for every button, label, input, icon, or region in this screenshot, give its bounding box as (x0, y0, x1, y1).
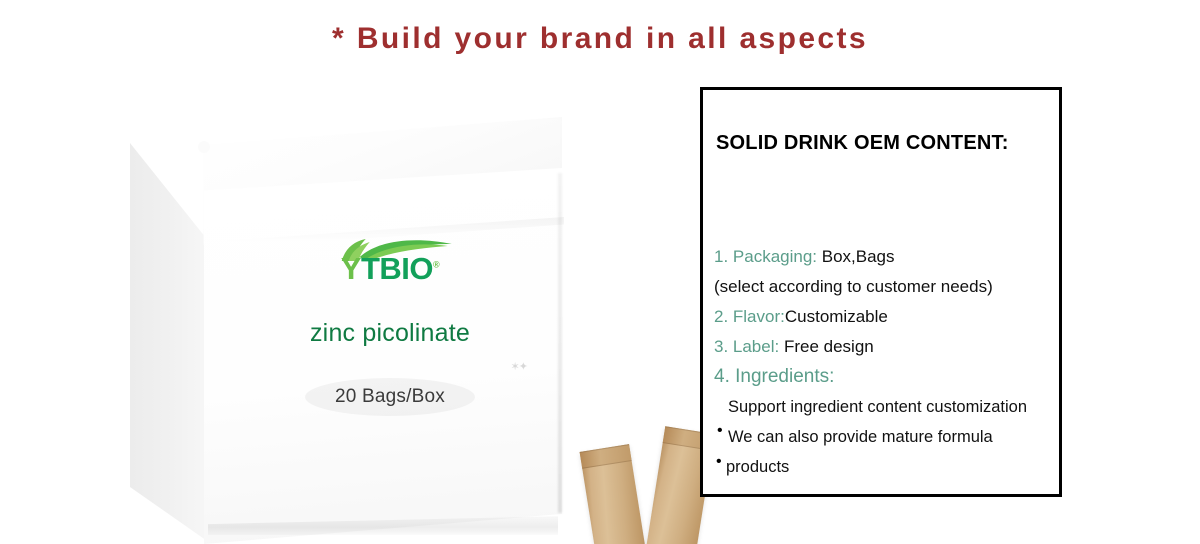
oem-content-list: 1. Packaging: Box,Bags (select according… (714, 242, 1064, 482)
bullet-dot-icon: • (717, 416, 723, 446)
oem-line-packaging-label: 1. Packaging: (714, 247, 817, 266)
oem-line-ingredients: 4. Ingredients: (714, 362, 1064, 392)
oem-line-flavor: 2. Flavor:Customizable (714, 302, 1064, 332)
sparkle-icon: ✶✦ (511, 360, 527, 373)
product-name: zinc picolinate (240, 319, 540, 348)
brand-letters-tbio: TBIO (361, 251, 433, 286)
carton-corner-nub (198, 141, 210, 153)
oem-line-products: •products (714, 452, 1064, 482)
oem-line-flavor-label: 2. Flavor: (714, 307, 785, 326)
sachet-left (580, 444, 657, 544)
oem-line-label-label: 3. Label: (714, 337, 779, 356)
oem-line-packaging-note: (select according to customer needs) (714, 272, 1064, 302)
oem-line-ingredients-label: 4. Ingredients: (714, 366, 834, 387)
product-photo: YTBIO® zinc picolinate 20 Bags/Box ✶✦ (40, 95, 660, 544)
product-carton: YTBIO® zinc picolinate 20 Bags/Box ✶✦ (130, 117, 560, 544)
oem-panel-heading: SOLID DRINK OEM CONTENT: (716, 132, 1009, 155)
sachet-pair (545, 353, 705, 544)
page-title: * Build your brand in all aspects (0, 22, 1200, 56)
oem-line-ingredients-detail: Support ingredient content customization (714, 392, 1064, 422)
carton-front-artwork: YTBIO® zinc picolinate 20 Bags/Box ✶✦ (240, 237, 540, 416)
carton-side-face (130, 143, 210, 543)
ytbio-wordmark: YTBIO® (240, 253, 540, 284)
brand-letter-y: Y (341, 251, 361, 286)
oem-line-flavor-value: Customizable (785, 307, 888, 326)
oem-line-label-value: Free design (779, 337, 874, 356)
registered-mark: ® (433, 260, 439, 270)
oem-line-ingredients-detail-value: Support ingredient content customization (728, 398, 1027, 416)
oem-line-packaging-value: Box,Bags (817, 247, 895, 266)
oem-line-label: 3. Label: Free design (714, 332, 1064, 362)
page-root: * Build your brand in all aspects (0, 0, 1200, 544)
oem-line-formula-value: We can also provide mature formula (728, 428, 993, 446)
oem-line-formula: •We can also provide mature formula (714, 422, 1064, 452)
ytbio-logo: YTBIO® (240, 237, 540, 293)
bag-count-badge: 20 Bags/Box (305, 378, 475, 416)
oem-line-packaging: 1. Packaging: Box,Bags (714, 242, 1064, 272)
count-pill-wrapper: 20 Bags/Box ✶✦ (305, 378, 475, 416)
oem-line-packaging-note-value: (select according to customer needs) (714, 277, 993, 296)
sachet-left-top-seal (580, 444, 632, 469)
oem-content-panel: SOLID DRINK OEM CONTENT: 1. Packaging: B… (700, 87, 1062, 497)
bullet-dot-icon: • (716, 447, 722, 477)
oem-line-products-value: products (726, 458, 789, 476)
